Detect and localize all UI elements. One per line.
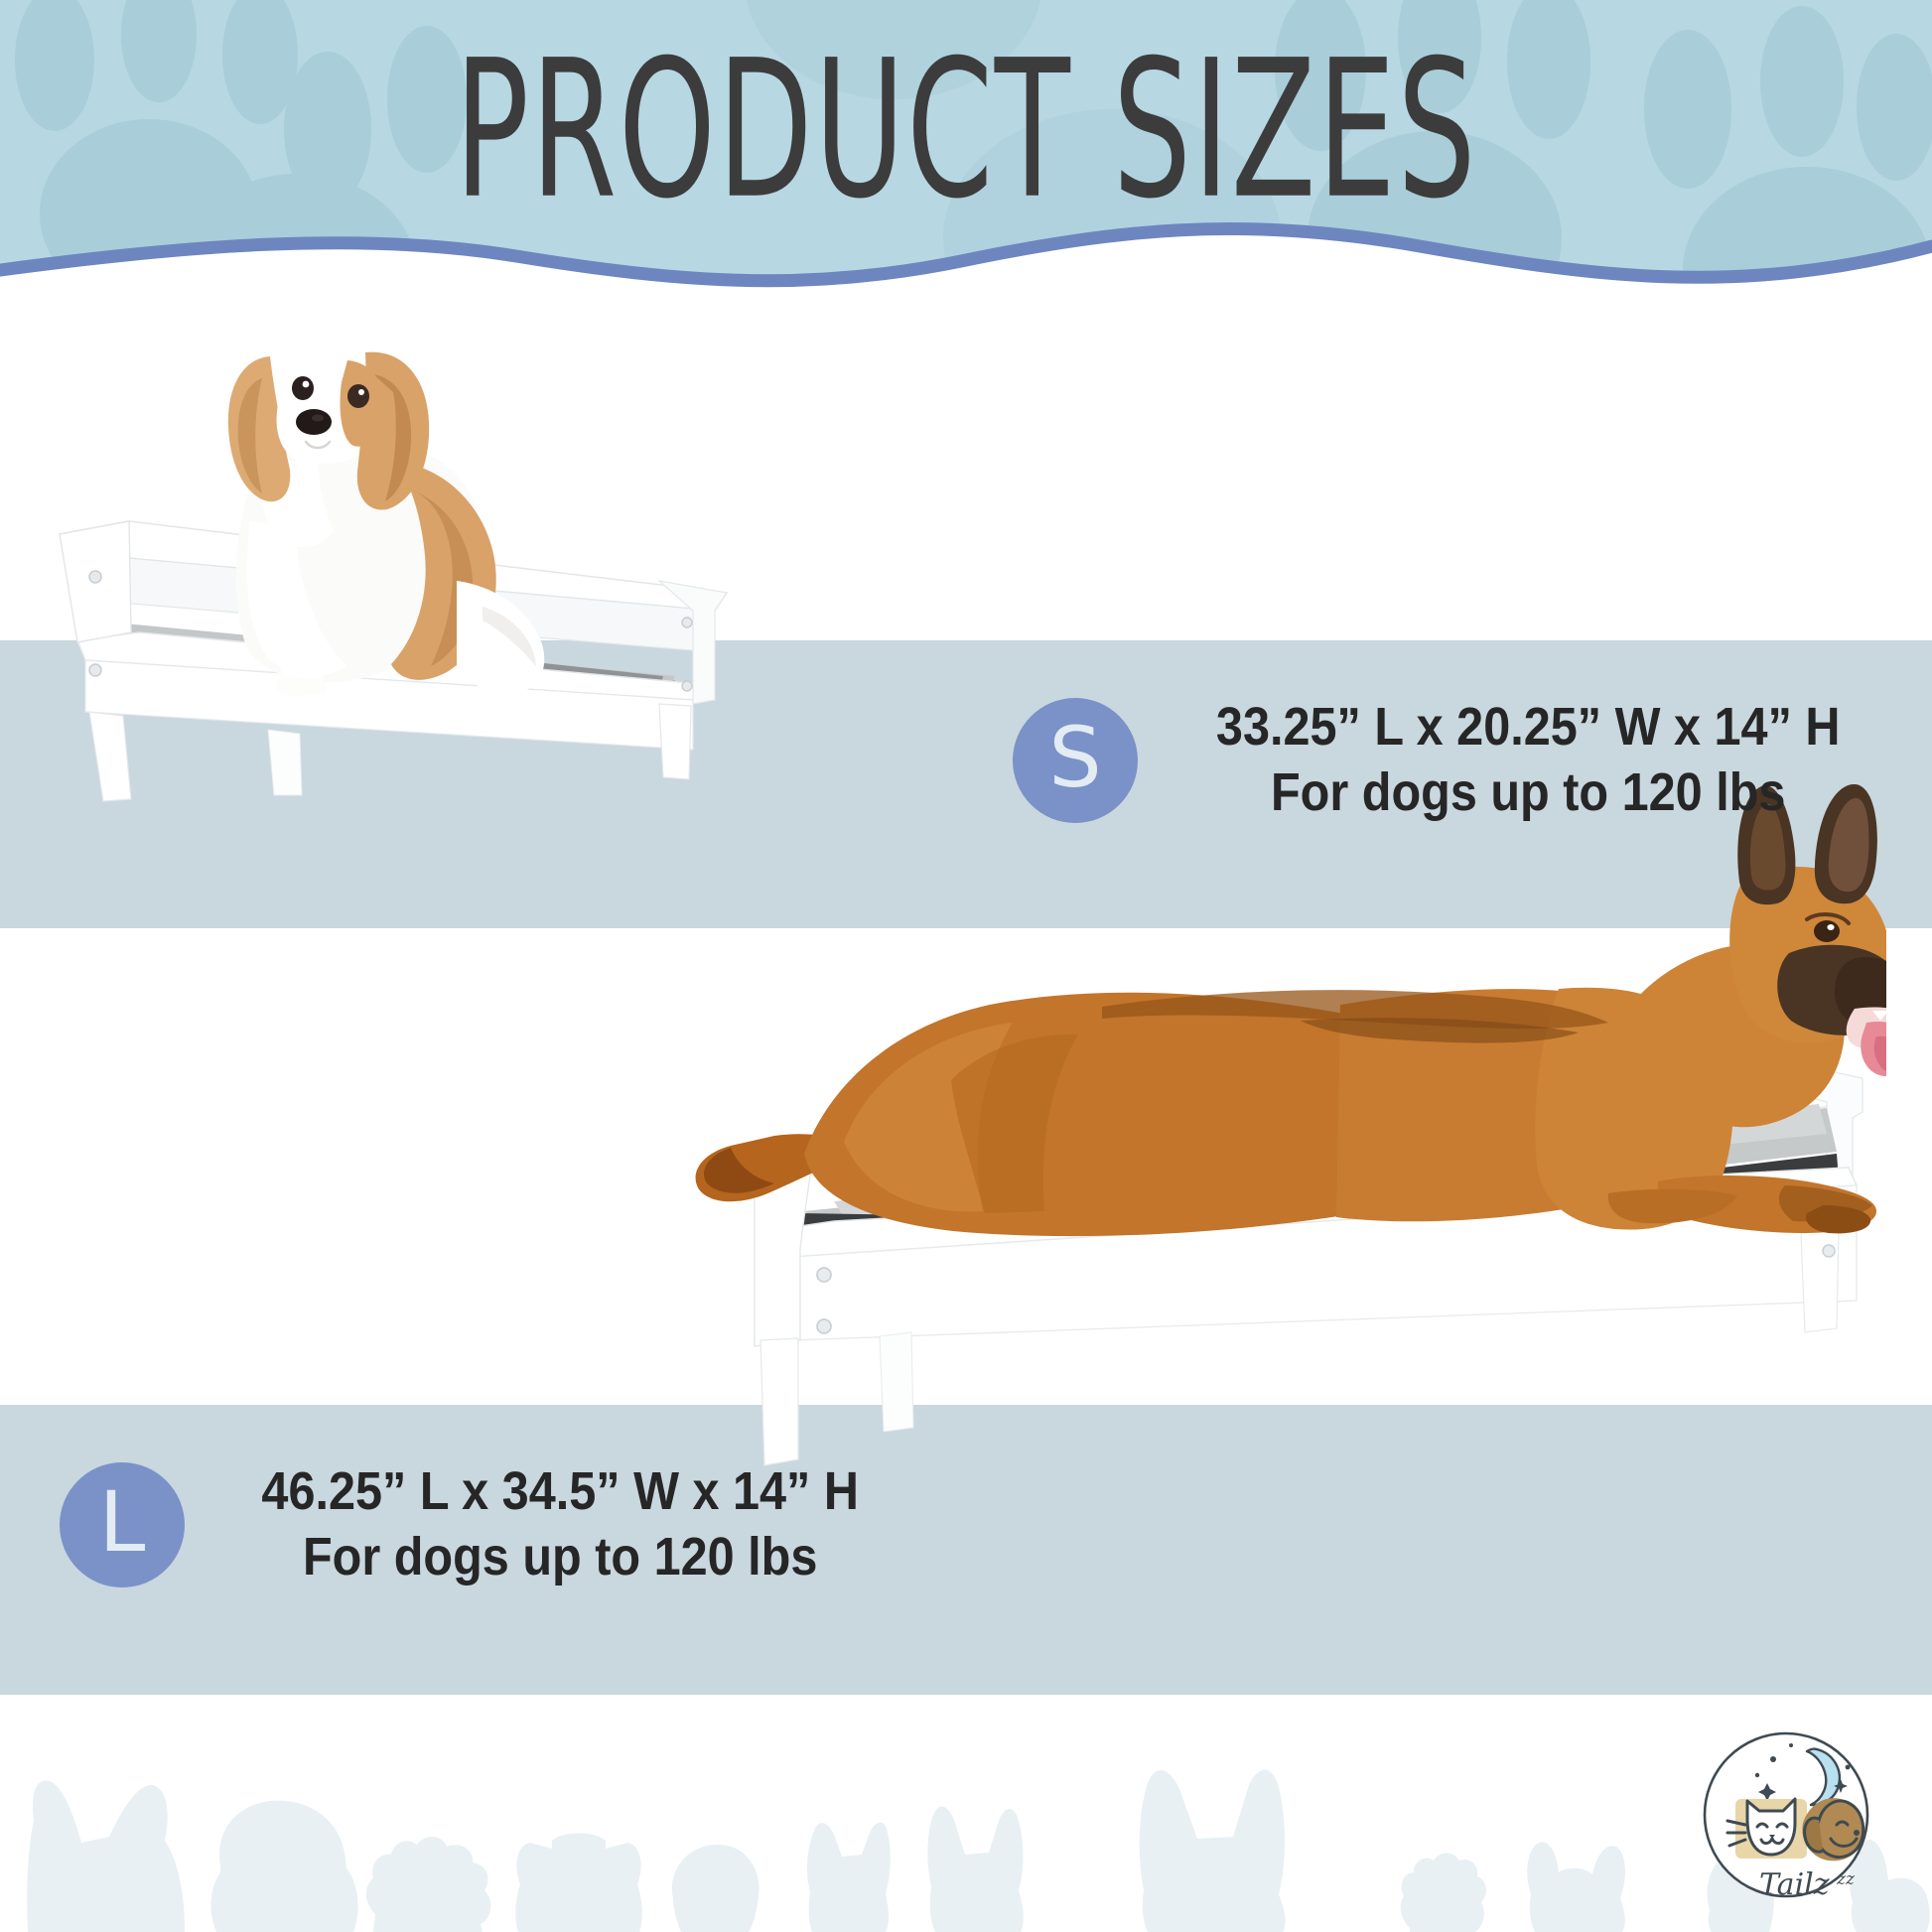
size-dimensions-large: 46.25” L x 34.5” W x 14” H bbox=[261, 1459, 859, 1525]
dog-cavalier-king-charles-spaniel bbox=[228, 332, 544, 696]
size-badge-small: S bbox=[1013, 698, 1138, 823]
dog-nose bbox=[296, 409, 332, 435]
logo-wordmark: Tailz bbox=[1759, 1867, 1830, 1902]
size-dimensions-small: 33.25” L x 20.25” W x 14” H bbox=[1216, 695, 1841, 760]
infographic-canvas: PRODUCT SIZES bbox=[0, 0, 1932, 1932]
size-badge-large: L bbox=[60, 1462, 185, 1587]
product-photo-large bbox=[685, 784, 1886, 1509]
size-text-small: 33.25” L x 20.25” W x 14” H For dogs up … bbox=[1181, 695, 1874, 826]
dog-belgian-malinois bbox=[696, 784, 1886, 1236]
product-photo-small bbox=[20, 283, 774, 809]
size-row-small: S 33.25” L x 20.25” W x 14” H For dogs u… bbox=[1013, 695, 1874, 826]
page-title: PRODUCT SIZES bbox=[174, 0, 1758, 292]
dog-eye-left bbox=[292, 376, 314, 400]
logo-sleep-marks: zz bbox=[1836, 1869, 1856, 1889]
header-banner: PRODUCT SIZES bbox=[0, 0, 1932, 298]
dog-eye-large bbox=[1814, 920, 1840, 942]
size-row-large: L 46.25” L x 34.5” W x 14” H For dogs up… bbox=[60, 1459, 892, 1590]
size-weight-small: For dogs up to 120 lbs bbox=[1216, 760, 1841, 826]
dog-eye-right bbox=[347, 384, 369, 408]
brand-logo: Tailz zz bbox=[1692, 1727, 1880, 1916]
footer-pet-silhouettes bbox=[0, 1763, 1932, 1932]
size-weight-large: For dogs up to 120 lbs bbox=[261, 1525, 859, 1590]
size-text-large: 46.25” L x 34.5” W x 14” H For dogs up t… bbox=[228, 1459, 892, 1590]
